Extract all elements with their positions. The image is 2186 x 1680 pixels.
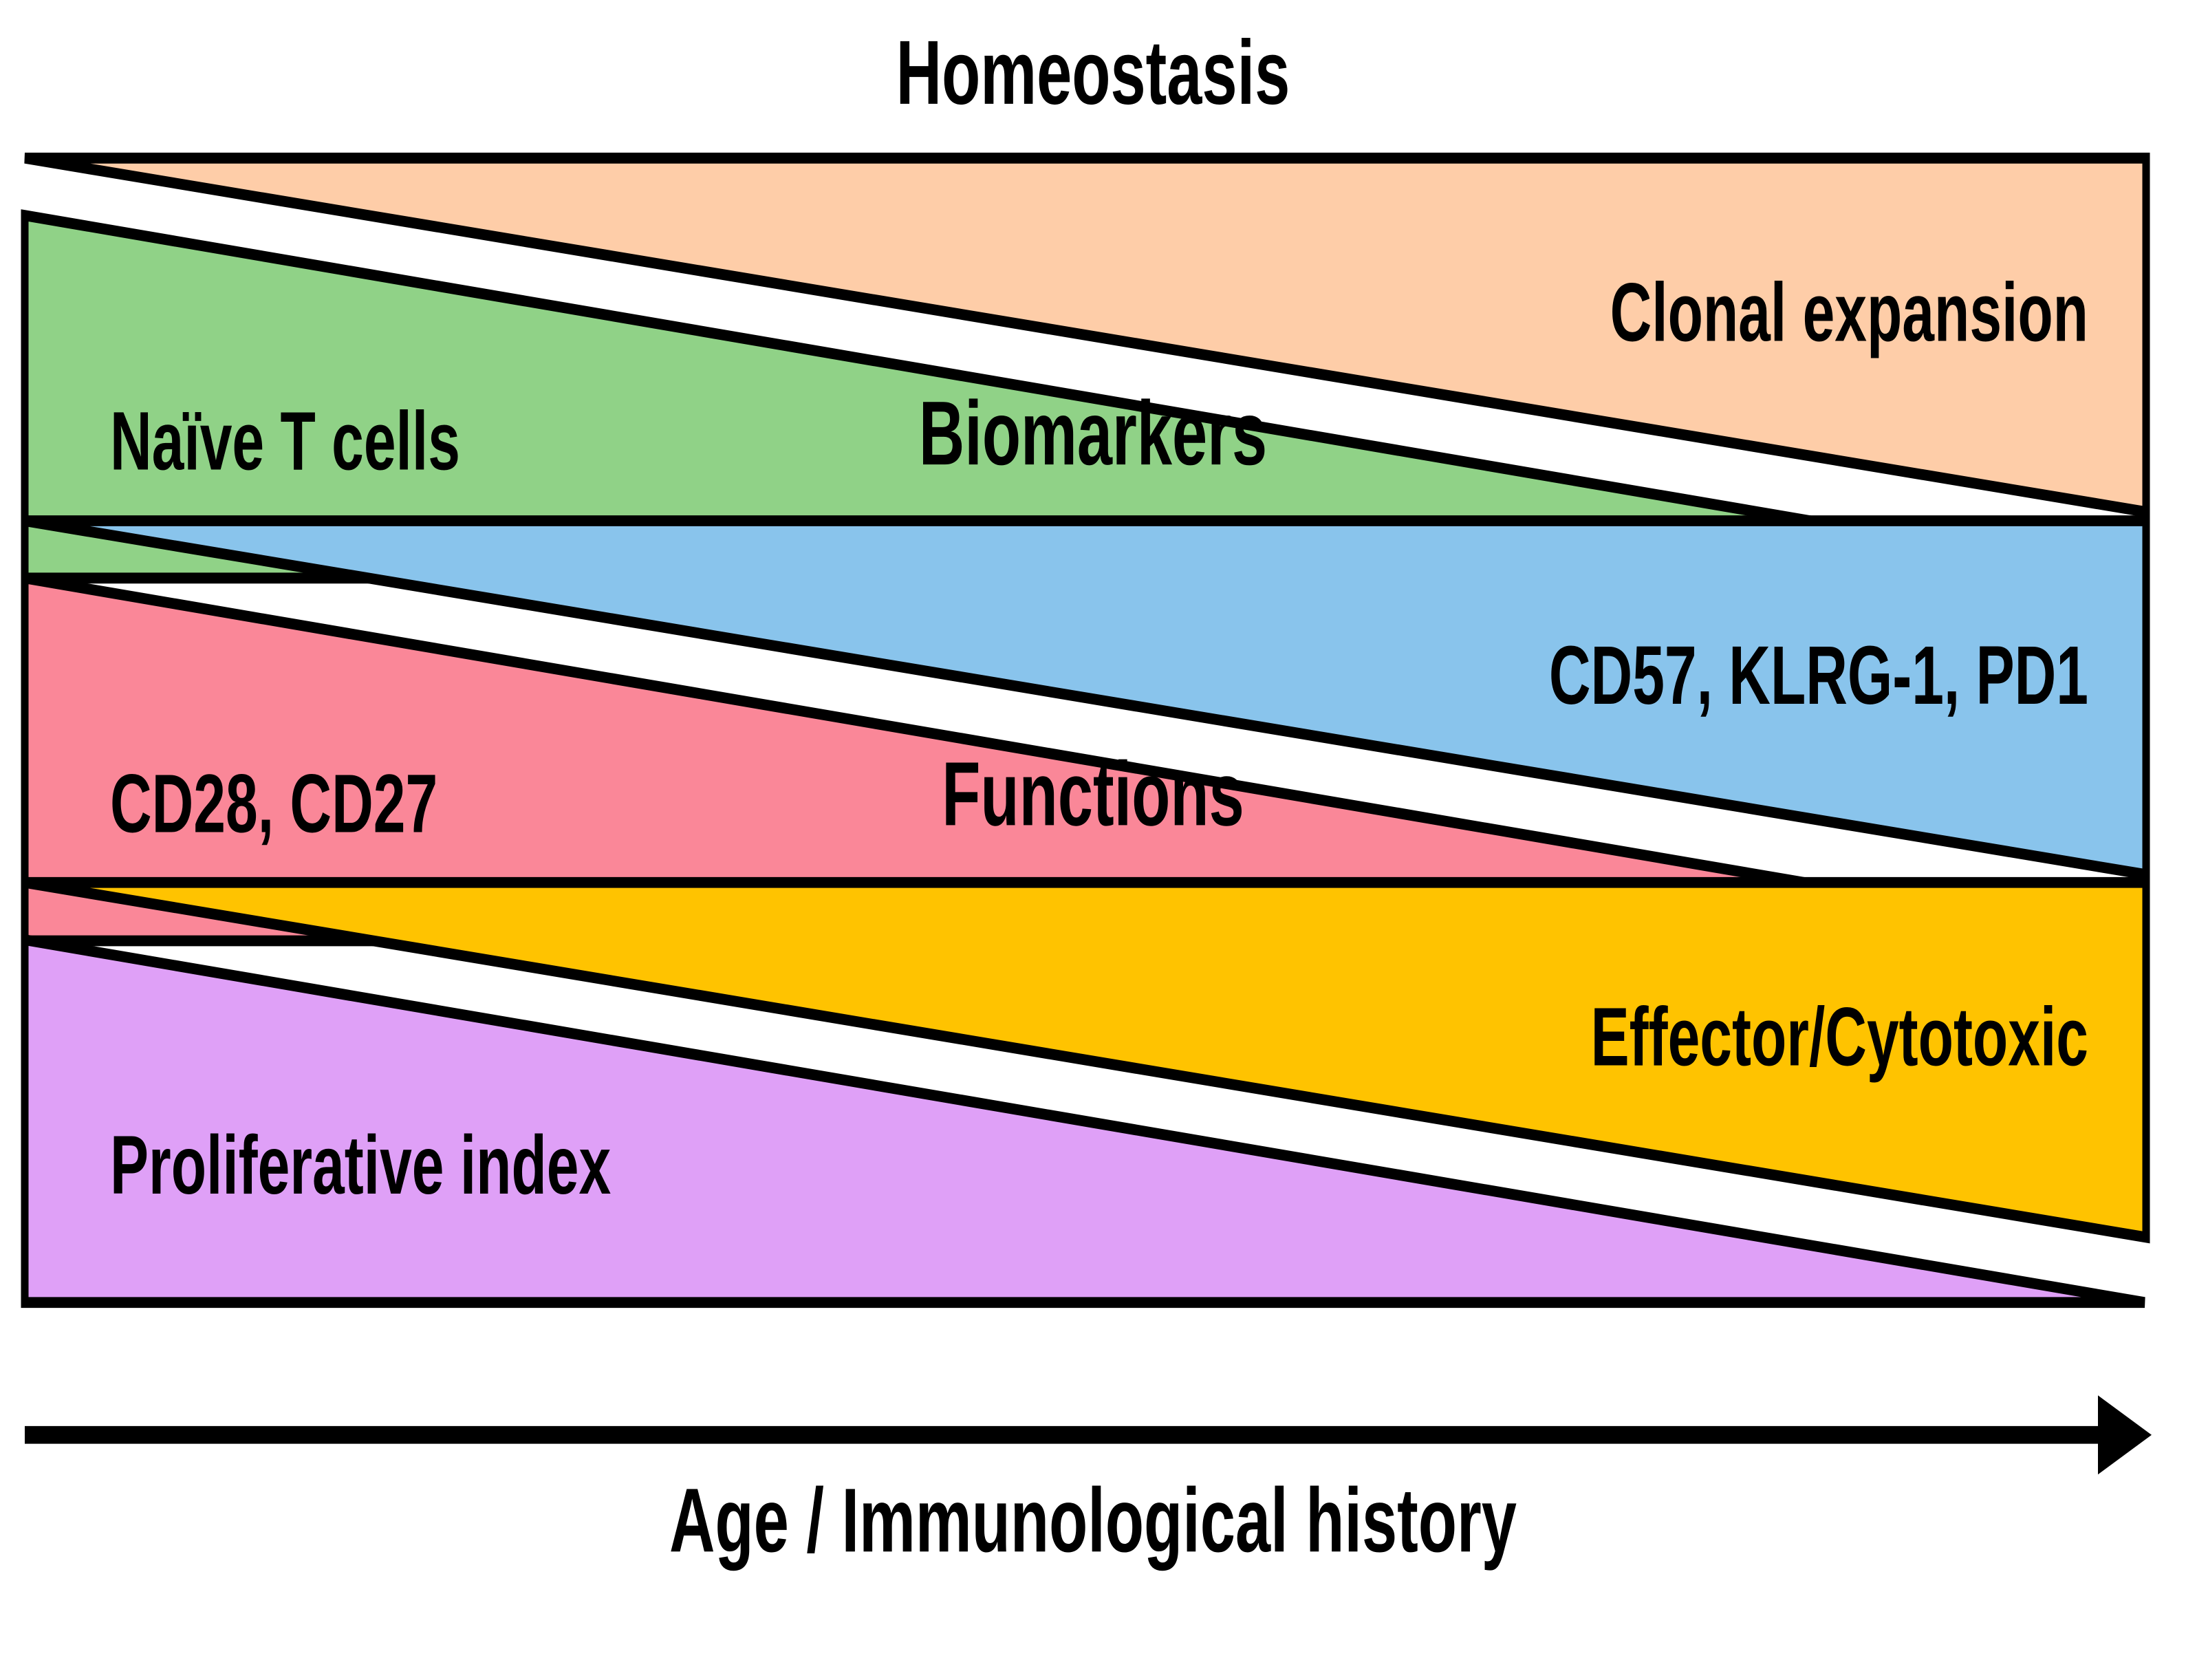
band-label-effector-cytotoxic: Effector/Cytotoxic — [1591, 991, 2088, 1084]
axis-label-age: Age / Immunological history — [669, 1470, 1517, 1571]
band-label-naive-t-cells: Naïve T cells — [110, 395, 460, 488]
band-label-proliferative-index: Proliferative index — [110, 1119, 611, 1212]
panel-title-functions: Functions — [942, 744, 1244, 845]
panel-title-homeostasis: Homeostasis — [896, 22, 1290, 123]
age-axis: Age / Immunological history — [25, 1395, 2152, 1571]
panel-title-biomarkers: Biomarkers — [919, 383, 1267, 484]
right-arrow-icon — [2098, 1395, 2152, 1474]
diagram-svg: Homeostasis Clonal expansion Naïve T cel… — [0, 0, 2186, 1680]
band-label-clonal-expansion: Clonal expansion — [1610, 267, 2088, 360]
band-label-early-markers: CD28, CD27 — [110, 758, 437, 851]
panel-homeostasis: Homeostasis Clonal expansion Naïve T cel… — [25, 22, 2146, 578]
figure-canvas: Homeostasis Clonal expansion Naïve T cel… — [0, 0, 2186, 1680]
band-label-late-markers: CD57, KLRG-1, PD1 — [1549, 629, 2088, 722]
